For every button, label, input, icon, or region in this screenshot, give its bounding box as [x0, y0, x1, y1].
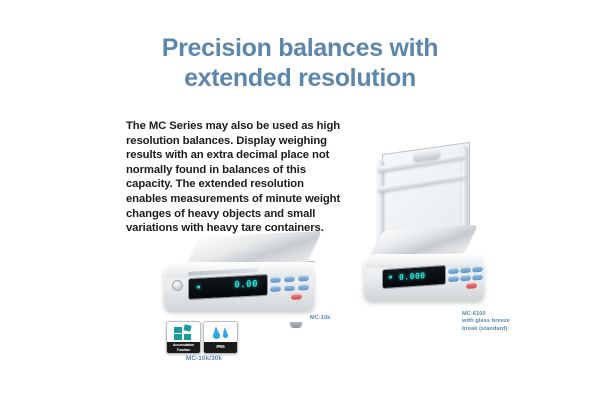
caption-badges-models: MC-10k/30k — [160, 355, 248, 362]
keypad-key — [448, 275, 459, 282]
badge-label: Accumulation Function — [167, 342, 200, 353]
caption-mc-10k: MC-10k — [310, 315, 331, 322]
caption-line-2: with glass breeze — [462, 318, 510, 325]
keypad-key — [298, 275, 309, 282]
keypad-key-power — [291, 293, 302, 300]
title-line-2: extended resolution — [0, 63, 600, 93]
keypad-key — [270, 276, 281, 283]
keypad-key — [448, 267, 459, 274]
display-value: 0.000 — [399, 271, 426, 282]
balance-foot — [290, 322, 302, 328]
stability-dot-icon — [389, 276, 392, 279]
badge-accumulation-function: Accumulation Function — [166, 321, 201, 354]
keypad-key — [298, 284, 309, 291]
badge-label: IP65 — [204, 342, 237, 353]
display-value: 0.00 — [234, 279, 258, 290]
feature-badges: Accumulation Function IP65 — [166, 321, 242, 353]
water-drops-icon — [204, 322, 237, 342]
slide-canvas: Precision balances with extended resolut… — [0, 0, 600, 400]
keypad — [448, 266, 482, 290]
title-line-1: Precision balances with — [162, 34, 439, 62]
keypad-key — [460, 275, 471, 282]
keypad-key — [472, 266, 483, 273]
page-title: Precision balances with extended resolut… — [0, 33, 600, 93]
badge-ip65: IP65 — [203, 321, 238, 354]
keypad-key-power — [466, 282, 477, 289]
keypad — [270, 275, 310, 301]
product-photo-mc-6100: 0.000 — [360, 128, 488, 318]
caption-line-1: MC-6100 — [462, 311, 510, 318]
product-photo-mc-10k: 0.00 — [158, 232, 326, 324]
keypad-key — [472, 274, 483, 281]
caption-mc-6100: MC-6100 with glass breeze break (standar… — [462, 311, 510, 333]
accumulation-grid-icon — [167, 322, 200, 342]
keypad-key — [270, 285, 281, 292]
display-screen: 0.00 — [188, 274, 268, 300]
keypad-key — [460, 267, 471, 274]
body-paragraph: The MC Series may also be used as high r… — [126, 119, 344, 236]
level-indicator — [172, 280, 183, 291]
keypad-key — [284, 285, 295, 292]
stability-dot-icon — [197, 285, 200, 288]
caption-line-3: break (standard) — [462, 326, 510, 333]
keypad-key — [284, 276, 295, 283]
